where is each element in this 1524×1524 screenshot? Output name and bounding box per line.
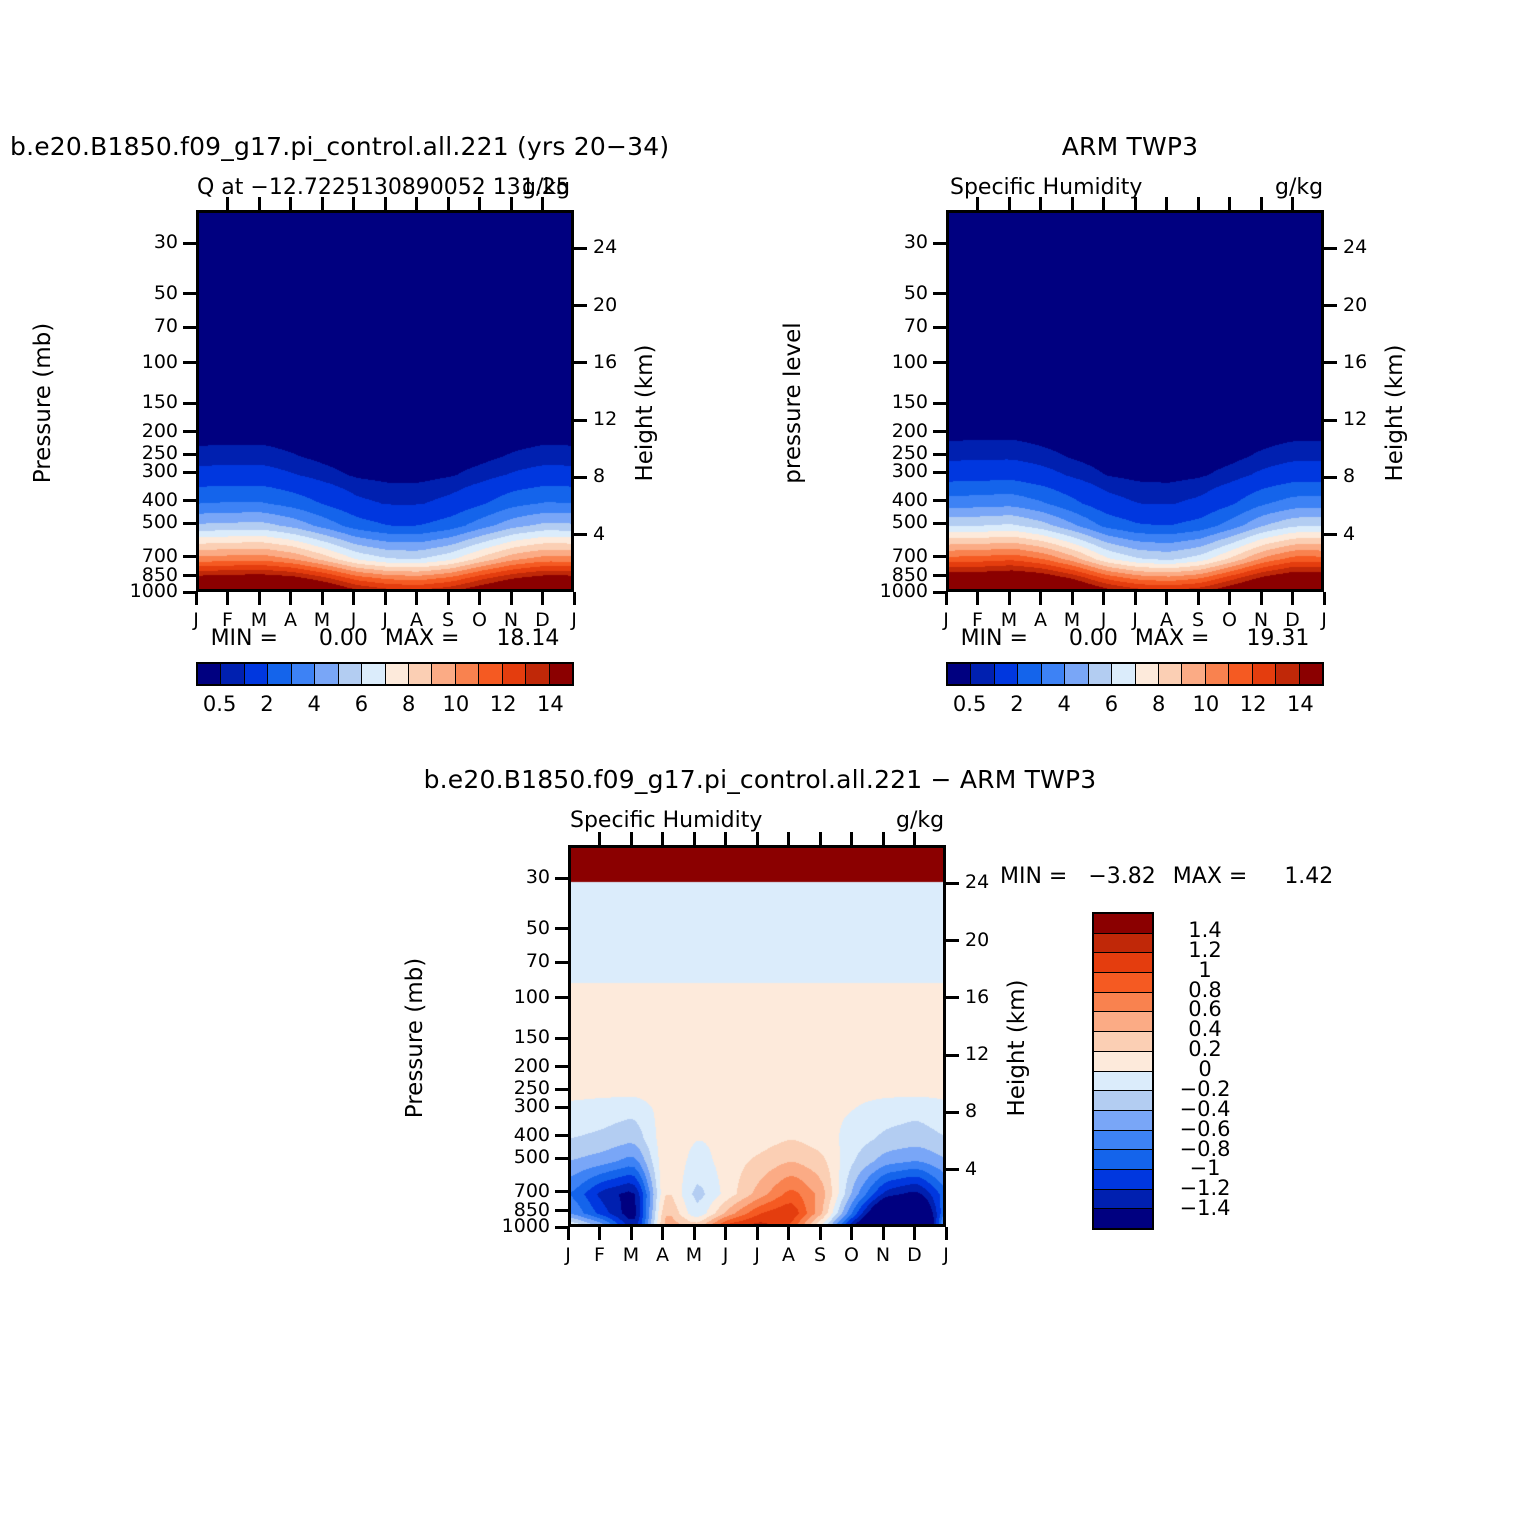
pressure-tick-label: 400	[106, 489, 178, 511]
colorbar-segment	[1182, 664, 1205, 684]
height-tick-label: 12	[965, 1043, 1009, 1065]
height-tick-label: 24	[1343, 236, 1387, 258]
colorbar-segment	[339, 664, 362, 684]
colorbar-segment	[1089, 664, 1112, 684]
pressure-tick-label: 100	[856, 351, 928, 373]
axis-tick-left	[933, 242, 946, 245]
axis-tick-bottom	[724, 1227, 727, 1240]
month-label: J	[930, 609, 962, 631]
month-label: D	[1277, 609, 1309, 631]
axis-tick-left	[933, 430, 946, 433]
colorbar-segment	[292, 664, 315, 684]
axis-tick-top	[1165, 197, 1168, 210]
axis-tick-left	[933, 471, 946, 474]
axis-tick-top	[913, 832, 916, 845]
axis-tick-bottom	[693, 1227, 696, 1240]
axis-tick-bottom	[819, 1227, 822, 1240]
month-label: J	[1088, 609, 1120, 631]
axis-tick-top	[1008, 197, 1011, 210]
axis-tick-top	[976, 197, 979, 210]
axis-tick-top	[882, 832, 885, 845]
axis-tick-bottom	[976, 592, 979, 605]
colorbar-segment	[432, 664, 455, 684]
axis-tick-left	[933, 499, 946, 502]
month-label: M	[615, 1244, 647, 1266]
pressure-tick-label: 300	[106, 460, 178, 482]
axis-tick-right	[1324, 476, 1337, 479]
colorbar-segment	[409, 664, 432, 684]
colorbar-segment	[1018, 664, 1041, 684]
axis-tick-left	[183, 591, 196, 594]
axis-tick-right	[1324, 361, 1337, 364]
axis-tick-left	[555, 961, 568, 964]
pressure-tick-label: 50	[106, 282, 178, 304]
month-label: J	[1119, 609, 1151, 631]
colorbar-segment	[1094, 993, 1152, 1013]
colorbar-segment	[1094, 1190, 1152, 1210]
month-label: D	[899, 1244, 931, 1266]
axis-tick-top	[352, 197, 355, 210]
height-tick-label: 20	[965, 929, 1009, 951]
colorbar-segment	[1094, 953, 1152, 973]
axis-tick-top	[478, 197, 481, 210]
colorbar-segment	[503, 664, 526, 684]
axis-tick-right	[574, 476, 587, 479]
pressure-tick-label: 100	[106, 351, 178, 373]
height-tick-label: 24	[593, 236, 637, 258]
colorbar-segment	[1094, 1111, 1152, 1131]
height-tick-label: 12	[1343, 408, 1387, 430]
axis-tick-top	[384, 197, 387, 210]
axis-tick-left	[933, 574, 946, 577]
colorbar-segment	[1206, 664, 1229, 684]
axis-tick-left	[555, 996, 568, 999]
axis-tick-left	[183, 242, 196, 245]
pressure-tick-label: 200	[106, 420, 178, 442]
month-label: J	[558, 609, 590, 631]
month-label: J	[1308, 609, 1340, 631]
height-tick-label: 4	[593, 523, 637, 545]
pressure-tick-label: 150	[856, 391, 928, 413]
colorbar-segment	[245, 664, 268, 684]
pressure-tick-label: 100	[478, 986, 550, 1008]
month-label: J	[180, 609, 212, 631]
pressure-tick-label: 150	[106, 391, 178, 413]
month-label: A	[275, 609, 307, 631]
axis-tick-bottom	[1102, 592, 1105, 605]
panel-difference-minmax: MIN = −3.82 MAX = 1.42	[1000, 864, 1333, 889]
month-label: J	[338, 609, 370, 631]
axis-tick-top	[850, 832, 853, 845]
colorbar-segment	[456, 664, 479, 684]
month-label: N	[1245, 609, 1277, 631]
month-label: O	[836, 1244, 868, 1266]
axis-tick-left	[555, 1037, 568, 1040]
axis-tick-bottom	[1039, 592, 1042, 605]
colorbar-segment	[1159, 664, 1182, 684]
height-tick-label: 12	[593, 408, 637, 430]
colorbar-segment	[1136, 664, 1159, 684]
axis-tick-left	[183, 361, 196, 364]
axis-tick-left	[933, 453, 946, 456]
axis-tick-left	[555, 1157, 568, 1160]
month-label: M	[1056, 609, 1088, 631]
axis-tick-bottom	[478, 592, 481, 605]
axis-tick-top	[289, 197, 292, 210]
month-label: O	[464, 609, 496, 631]
axis-tick-bottom	[756, 1227, 759, 1240]
axis-tick-top	[1071, 197, 1074, 210]
axis-tick-left	[933, 591, 946, 594]
axis-tick-right	[574, 361, 587, 364]
axis-tick-bottom	[1071, 592, 1074, 605]
axis-tick-bottom	[1323, 592, 1326, 605]
pressure-tick-label: 400	[856, 489, 928, 511]
panel-obs-title: ARM TWP3	[940, 132, 1320, 161]
colorbar-segment	[315, 664, 338, 684]
colorbar-tick-label: 14	[1270, 692, 1330, 716]
axis-tick-bottom	[1197, 592, 1200, 605]
axis-tick-top	[258, 197, 261, 210]
axis-tick-bottom	[195, 592, 198, 605]
axis-tick-bottom	[573, 592, 576, 605]
colorbar-segment	[1094, 1091, 1152, 1111]
panel-difference-subtitle-left: Specific Humidity	[570, 808, 762, 833]
axis-tick-bottom	[384, 592, 387, 605]
axis-tick-right	[946, 939, 959, 942]
axis-tick-top	[756, 832, 759, 845]
pressure-tick-label: 500	[856, 511, 928, 533]
axis-tick-top	[693, 832, 696, 845]
plot-area-difference	[568, 845, 946, 1227]
panel-difference-subtitle-right: g/kg	[896, 808, 944, 833]
height-tick-label: 16	[1343, 351, 1387, 373]
axis-tick-bottom	[945, 592, 948, 605]
axis-tick-right	[1324, 247, 1337, 250]
axis-tick-top	[787, 832, 790, 845]
height-tick-label: 4	[1343, 523, 1387, 545]
pressure-tick-label: 300	[856, 460, 928, 482]
axis-tick-right	[574, 533, 587, 536]
month-label: N	[495, 609, 527, 631]
plot-area-obs	[946, 210, 1324, 592]
panel-model-ylabel-left: Pressure (mb)	[30, 303, 56, 503]
axis-tick-bottom	[882, 1227, 885, 1240]
max-value: 1.42	[1284, 864, 1333, 889]
month-label: S	[1182, 609, 1214, 631]
axis-tick-left	[183, 402, 196, 405]
axis-tick-top	[1039, 197, 1042, 210]
colorbar-segment	[1300, 664, 1322, 684]
month-label: A	[1151, 609, 1183, 631]
axis-tick-left	[933, 522, 946, 525]
pressure-tick-label: 500	[106, 511, 178, 533]
month-label: M	[306, 609, 338, 631]
axis-tick-bottom	[1291, 592, 1294, 605]
month-label: M	[243, 609, 275, 631]
colorbar-segment	[221, 664, 244, 684]
axis-tick-bottom	[661, 1227, 664, 1240]
month-label: J	[930, 1244, 962, 1266]
axis-tick-left	[933, 361, 946, 364]
axis-tick-right	[946, 1054, 959, 1057]
colorbar-segment	[362, 664, 385, 684]
colorbar-segment	[1094, 1170, 1152, 1190]
axis-tick-right	[1324, 533, 1337, 536]
colorbar-segment	[995, 664, 1018, 684]
pressure-tick-label: 70	[856, 315, 928, 337]
pressure-tick-label: 30	[856, 231, 928, 253]
height-tick-label: 8	[1343, 465, 1387, 487]
axis-tick-top	[1228, 197, 1231, 210]
axis-tick-bottom	[913, 1227, 916, 1240]
colorbar-segment	[1094, 1012, 1152, 1032]
pressure-tick-label: 400	[478, 1124, 550, 1146]
colorbar-segment	[1094, 973, 1152, 993]
pressure-tick-label: 70	[106, 315, 178, 337]
month-label: A	[1025, 609, 1057, 631]
colorbar-segment	[1094, 1032, 1152, 1052]
axis-tick-right	[946, 882, 959, 885]
colorbar-segment	[1094, 1052, 1152, 1072]
axis-tick-top	[1260, 197, 1263, 210]
colorbar-segment	[1042, 664, 1065, 684]
axis-tick-left	[183, 292, 196, 295]
colorbar-tick-label: 14	[520, 692, 580, 716]
axis-tick-bottom	[1134, 592, 1137, 605]
axis-tick-bottom	[226, 592, 229, 605]
axis-tick-left	[183, 574, 196, 577]
axis-tick-top	[724, 832, 727, 845]
panel-difference-title: b.e20.B1850.f09_g17.pi_control.all.221 −…	[380, 765, 1140, 794]
colorbar-segment	[268, 664, 291, 684]
axis-tick-left	[555, 1088, 568, 1091]
height-tick-label: 20	[593, 294, 637, 316]
axis-tick-bottom	[1165, 592, 1168, 605]
colorbar-humidity-model	[196, 662, 574, 686]
axis-tick-top	[447, 197, 450, 210]
axis-tick-left	[555, 1134, 568, 1137]
month-label: M	[993, 609, 1025, 631]
axis-tick-bottom	[447, 592, 450, 605]
axis-tick-top	[1291, 197, 1294, 210]
axis-tick-left	[933, 326, 946, 329]
axis-tick-right	[574, 419, 587, 422]
pressure-tick-label: 1000	[478, 1215, 550, 1237]
colorbar-segment	[198, 664, 221, 684]
colorbar-segment	[526, 664, 549, 684]
axis-tick-right	[946, 1111, 959, 1114]
height-tick-label: 24	[965, 871, 1009, 893]
month-label: A	[773, 1244, 805, 1266]
axis-tick-left	[183, 430, 196, 433]
colorbar-segment	[1253, 664, 1276, 684]
colorbar-segment	[1229, 664, 1252, 684]
colorbar-humidity-obs	[946, 662, 1324, 686]
panel-model-subtitle-right: g/kg	[522, 175, 570, 200]
min-value: −3.82	[1088, 864, 1155, 889]
colorbar-segment	[1094, 934, 1152, 954]
month-label: M	[678, 1244, 710, 1266]
max-label: MAX =	[1173, 864, 1248, 889]
axis-tick-left	[555, 877, 568, 880]
pressure-tick-label: 200	[856, 420, 928, 442]
axis-tick-bottom	[289, 592, 292, 605]
colorbar-segment	[1112, 664, 1135, 684]
axis-tick-top	[226, 197, 229, 210]
colorbar-difference	[1092, 912, 1154, 1230]
axis-tick-top	[415, 197, 418, 210]
axis-tick-right	[946, 996, 959, 999]
axis-tick-left	[183, 453, 196, 456]
pressure-tick-label: 30	[478, 866, 550, 888]
axis-tick-bottom	[1260, 592, 1263, 605]
axis-tick-left	[933, 555, 946, 558]
month-label: J	[710, 1244, 742, 1266]
month-label: A	[401, 609, 433, 631]
pressure-tick-label: 200	[478, 1055, 550, 1077]
axis-tick-left	[555, 1065, 568, 1068]
colorbar-segment	[1094, 1131, 1152, 1151]
height-tick-label: 4	[965, 1158, 1009, 1180]
month-label: O	[1214, 609, 1246, 631]
axis-tick-bottom	[415, 592, 418, 605]
axis-tick-bottom	[352, 592, 355, 605]
axis-tick-bottom	[321, 592, 324, 605]
axis-tick-left	[183, 499, 196, 502]
month-label: J	[741, 1244, 773, 1266]
axis-tick-bottom	[510, 592, 513, 605]
colorbar-segment	[550, 664, 572, 684]
axis-tick-top	[321, 197, 324, 210]
axis-tick-left	[555, 927, 568, 930]
axis-tick-top	[1197, 197, 1200, 210]
axis-tick-left	[933, 402, 946, 405]
axis-tick-left	[183, 522, 196, 525]
colorbar-segment	[1094, 1072, 1152, 1092]
month-label: N	[867, 1244, 899, 1266]
axis-tick-top	[661, 832, 664, 845]
axis-tick-right	[574, 304, 587, 307]
pressure-tick-label: 30	[106, 231, 178, 253]
axis-tick-left	[183, 555, 196, 558]
axis-tick-top	[819, 832, 822, 845]
height-tick-label: 16	[965, 986, 1009, 1008]
pressure-tick-label: 1000	[856, 580, 928, 602]
panel-model-title: b.e20.B1850.f09_g17.pi_control.all.221 (…	[10, 132, 770, 161]
height-tick-label: 8	[965, 1100, 1009, 1122]
colorbar-segment	[1094, 1150, 1152, 1170]
month-label: J	[552, 1244, 584, 1266]
colorbar-segment	[1094, 914, 1152, 934]
pressure-tick-label: 50	[478, 917, 550, 939]
axis-tick-bottom	[630, 1227, 633, 1240]
axis-tick-top	[541, 197, 544, 210]
month-label: S	[804, 1244, 836, 1266]
panel-obs-subtitle-right: g/kg	[1275, 175, 1323, 200]
height-tick-label: 16	[593, 351, 637, 373]
colorbar-segment	[948, 664, 971, 684]
axis-tick-bottom	[258, 592, 261, 605]
axis-tick-left	[183, 326, 196, 329]
pressure-tick-label: 50	[856, 282, 928, 304]
panel-difference-ylabel-left: Pressure (mb)	[402, 938, 428, 1138]
axis-tick-top	[1102, 197, 1105, 210]
colorbar-segment	[1276, 664, 1299, 684]
axis-tick-bottom	[945, 1227, 948, 1240]
pressure-tick-label: 1000	[106, 580, 178, 602]
month-label: J	[369, 609, 401, 631]
axis-tick-left	[555, 1190, 568, 1193]
height-tick-label: 8	[593, 465, 637, 487]
plot-area-model	[196, 210, 574, 592]
axis-tick-left	[933, 292, 946, 295]
axis-tick-right	[574, 247, 587, 250]
pressure-tick-label: 70	[478, 950, 550, 972]
axis-tick-top	[630, 832, 633, 845]
axis-tick-left	[555, 1226, 568, 1229]
axis-tick-bottom	[787, 1227, 790, 1240]
colorbar-segment	[1094, 1209, 1152, 1228]
pressure-tick-label: 150	[478, 1026, 550, 1048]
axis-tick-bottom	[1228, 592, 1231, 605]
axis-tick-left	[555, 1209, 568, 1212]
axis-tick-bottom	[567, 1227, 570, 1240]
axis-tick-bottom	[598, 1227, 601, 1240]
colorbar-segment	[971, 664, 994, 684]
month-label: A	[647, 1244, 679, 1266]
axis-tick-right	[1324, 304, 1337, 307]
pressure-tick-label: 500	[478, 1146, 550, 1168]
height-tick-label: 20	[1343, 294, 1387, 316]
colorbar-segment	[1065, 664, 1088, 684]
axis-tick-bottom	[850, 1227, 853, 1240]
month-label: F	[584, 1244, 616, 1266]
colorbar-segment	[386, 664, 409, 684]
colorbar-segment	[479, 664, 502, 684]
pressure-tick-label: 300	[478, 1095, 550, 1117]
axis-tick-right	[946, 1168, 959, 1171]
month-label: D	[527, 609, 559, 631]
axis-tick-top	[1134, 197, 1137, 210]
axis-tick-top	[510, 197, 513, 210]
colorbar-tick-label: −1.4	[1160, 1196, 1250, 1220]
axis-tick-bottom	[1008, 592, 1011, 605]
axis-tick-left	[555, 1106, 568, 1109]
min-label: MIN =	[1000, 864, 1067, 889]
month-label: F	[212, 609, 244, 631]
month-label: S	[432, 609, 464, 631]
axis-tick-bottom	[541, 592, 544, 605]
panel-obs-ylabel-left: pressure level	[780, 303, 806, 503]
axis-tick-top	[598, 832, 601, 845]
axis-tick-right	[1324, 419, 1337, 422]
month-label: F	[962, 609, 994, 631]
axis-tick-left	[183, 471, 196, 474]
